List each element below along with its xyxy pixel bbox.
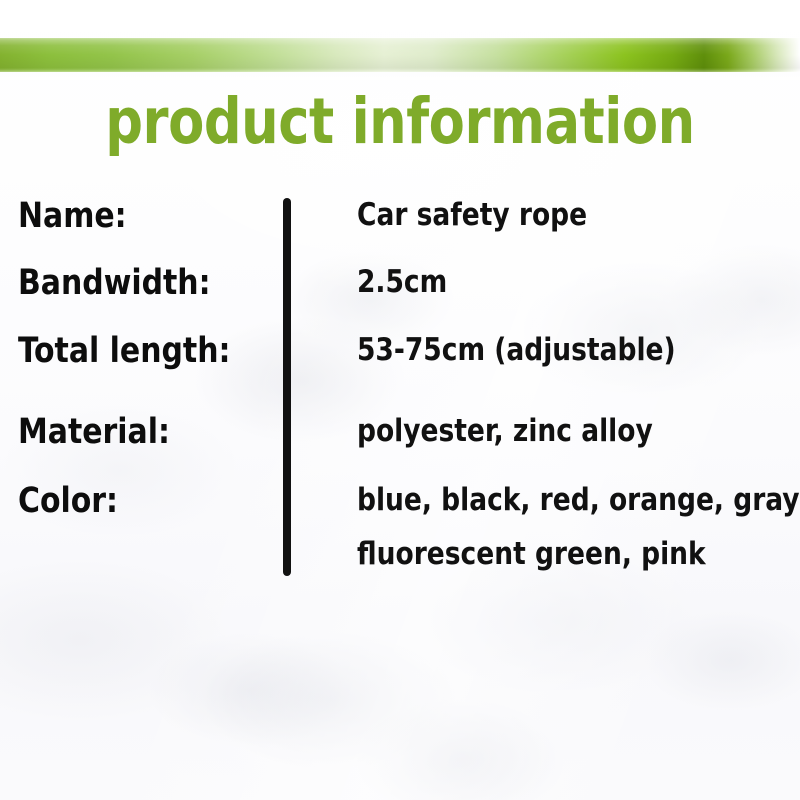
spec-label-material: Material: <box>18 412 170 452</box>
spec-value-line: 53-75cm (adjustable) <box>357 331 676 369</box>
spec-label-bandwidth: Bandwidth: <box>18 263 211 303</box>
spec-label-total-length: Total length: <box>18 331 231 371</box>
spec-value-line: fluorescent green, pink <box>357 535 800 573</box>
spec-value-line: blue, black, red, orange, gray <box>357 481 800 519</box>
spec-value-name: Car safety rope <box>357 196 587 234</box>
specification-table: Name: Car safety rope Bandwidth: 2.5cm T… <box>0 0 800 800</box>
spec-value-material: polyester, zinc alloy <box>357 412 653 450</box>
spec-value-bandwidth: 2.5cm <box>357 263 447 301</box>
spec-value-total-length: 53-75cm (adjustable) <box>357 331 676 369</box>
spec-value-line: polyester, zinc alloy <box>357 412 653 450</box>
spec-value-line: 2.5cm <box>357 263 447 301</box>
product-information-page: product information Name: Car safety rop… <box>0 0 800 800</box>
spec-label-name: Name: <box>18 196 127 236</box>
spec-value-line: Car safety rope <box>357 196 587 234</box>
spec-label-color: Color: <box>18 481 118 521</box>
spec-value-color: blue, black, red, orange, gray fluoresce… <box>357 481 800 573</box>
